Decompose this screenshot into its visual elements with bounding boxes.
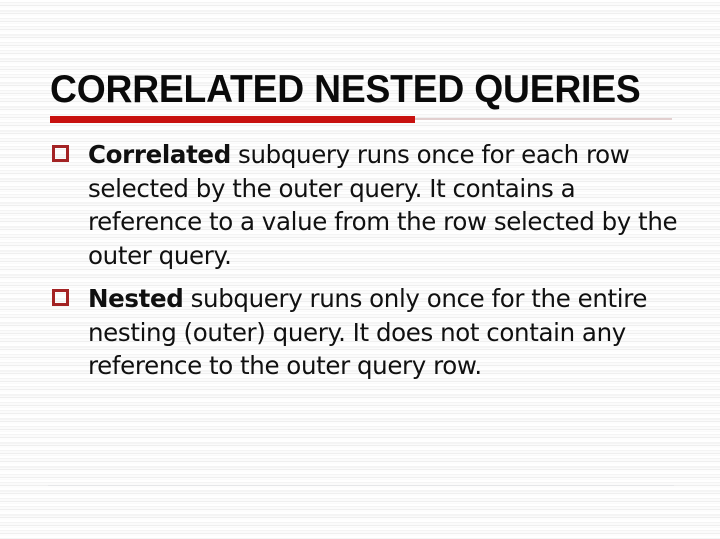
- list-item: Correlated subquery runs once for each r…: [50, 138, 682, 272]
- page-title: CORRELATED NESTED QUERIES: [50, 68, 652, 112]
- title-divider: [50, 115, 672, 124]
- bullet-list: Correlated subquery runs once for each r…: [50, 138, 682, 383]
- square-bullet-icon: [52, 289, 69, 306]
- divider-accent-bar: [50, 116, 415, 123]
- footer-divider: [48, 485, 674, 486]
- list-item-text: Correlated subquery runs once for each r…: [88, 138, 682, 272]
- list-item-lead: Nested: [88, 284, 183, 313]
- list-item-lead: Correlated: [88, 140, 231, 169]
- list-item: Nested subquery runs only once for the e…: [50, 282, 682, 383]
- slide-canvas: CORRELATED NESTED QUERIES Correlated sub…: [0, 0, 720, 539]
- square-bullet-icon: [52, 145, 69, 162]
- list-item-text: Nested subquery runs only once for the e…: [88, 282, 682, 383]
